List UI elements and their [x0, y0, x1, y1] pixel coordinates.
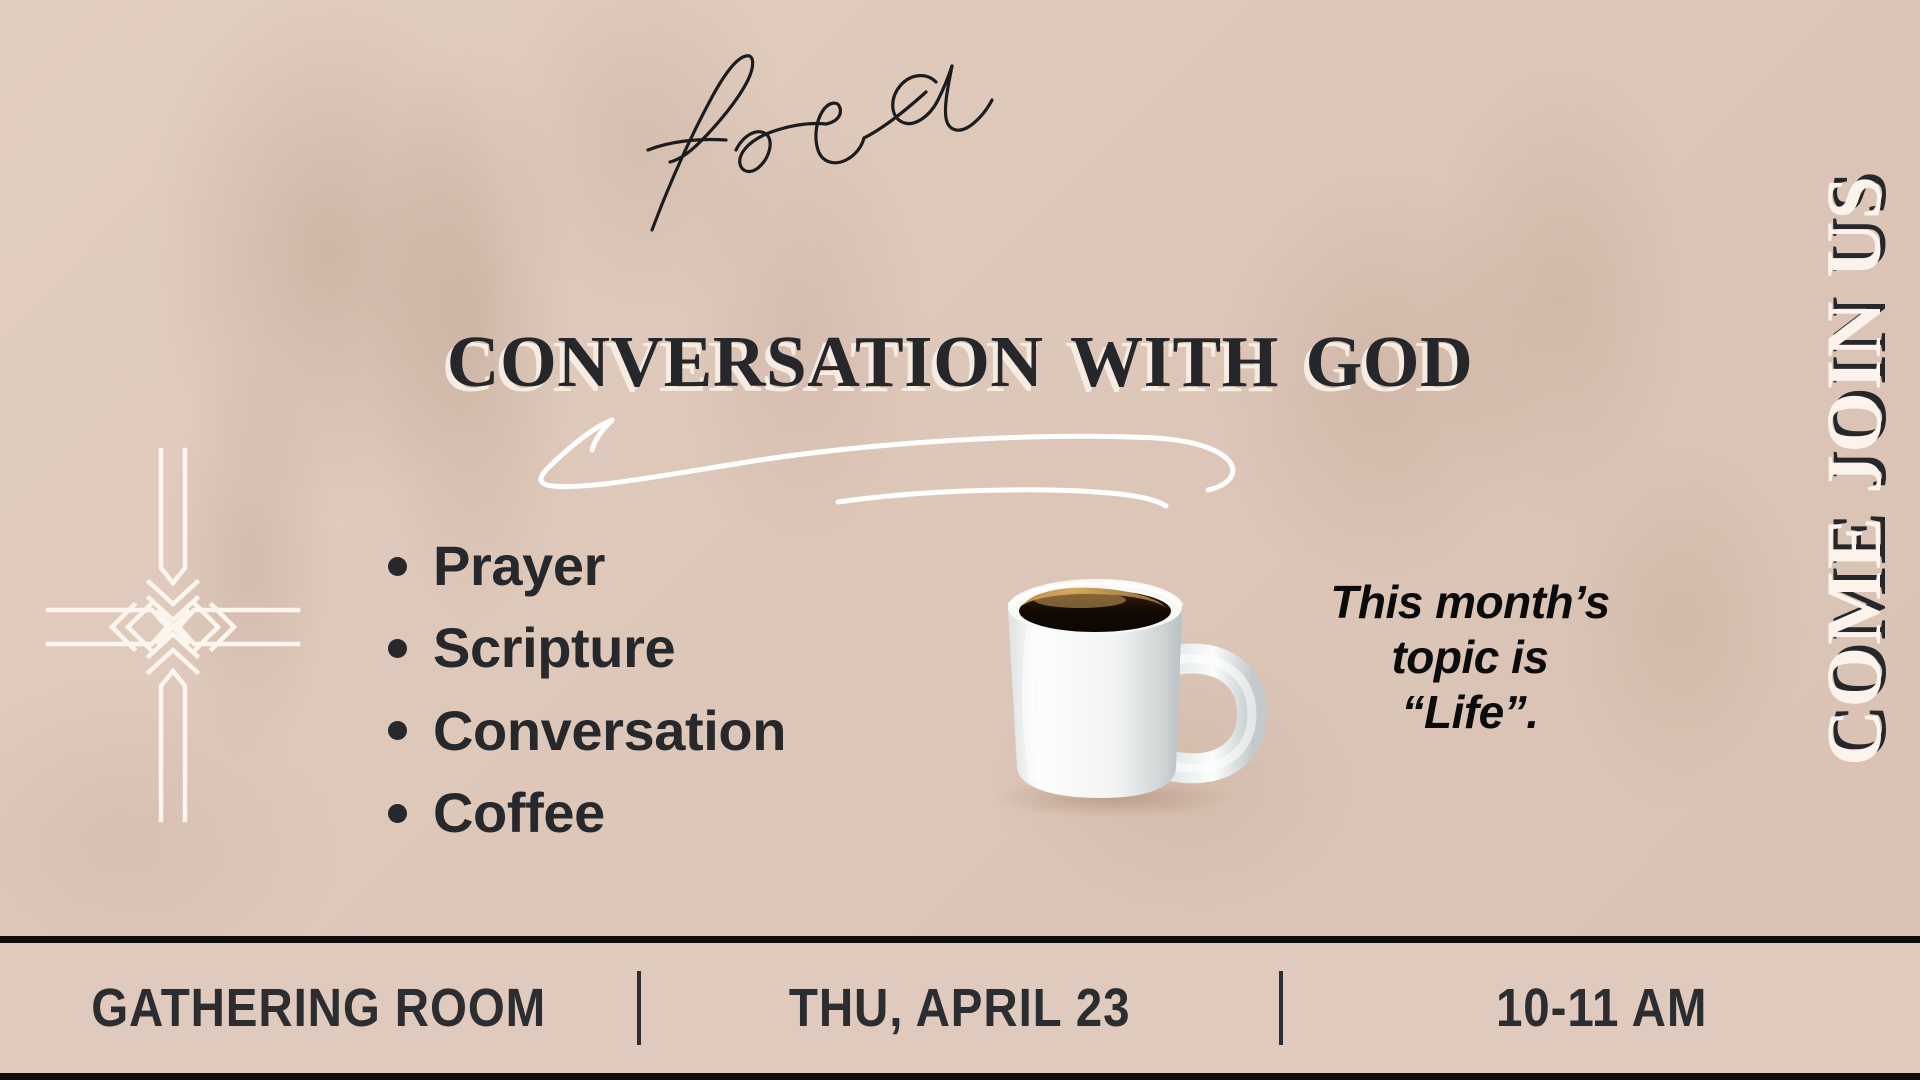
list-item-label: Conversation [433, 690, 786, 772]
script-for-a-icon [640, 42, 1070, 232]
event-poster: Conversation with God [0, 0, 1920, 1080]
footer-divider [637, 971, 641, 1045]
topic-line-3: “Life”. [1250, 685, 1690, 740]
bullet-dot-icon [388, 721, 407, 740]
bullet-dot-icon [388, 557, 407, 576]
bullet-dot-icon [388, 639, 407, 658]
footer-divider [1279, 971, 1283, 1045]
topic-line-2: topic is [1250, 630, 1690, 685]
cross-ornament [48, 450, 298, 820]
footer-date: THU, APRIL 23 [680, 977, 1241, 1039]
list-item-label: Scripture [433, 607, 675, 689]
footer-location: GATHERING ROOM [38, 977, 599, 1039]
page-title: Conversation with God [0, 300, 1920, 404]
come-join-us-cta: COME JOIN US [1794, 0, 1914, 940]
topic-line-1: This month’s [1250, 575, 1690, 630]
script-for-a [640, 42, 1070, 232]
swash-underline [520, 398, 1250, 513]
coffee-mug-icon [970, 548, 1270, 818]
topic-note: This month’s topic is “Life”. [1250, 575, 1690, 741]
list-item: Scripture [388, 607, 786, 689]
cross-icon [48, 450, 298, 820]
coffee-mug [970, 548, 1270, 818]
bullet-dot-icon [388, 804, 407, 823]
list-item: Conversation [388, 690, 786, 772]
list-item: Prayer [388, 525, 786, 607]
footer-bar: GATHERING ROOM THU, APRIL 23 10-11 AM [0, 936, 1920, 1080]
list-item-label: Coffee [433, 772, 605, 854]
swash-underline-icon [520, 398, 1250, 513]
list-item-label: Prayer [433, 525, 605, 607]
come-join-us-label: COME JOIN US [1809, 174, 1899, 766]
list-item: Coffee [388, 772, 786, 854]
footer-time: 10-11 AM [1321, 977, 1882, 1039]
program-list: Prayer Scripture Conversation Coffee [388, 525, 786, 854]
